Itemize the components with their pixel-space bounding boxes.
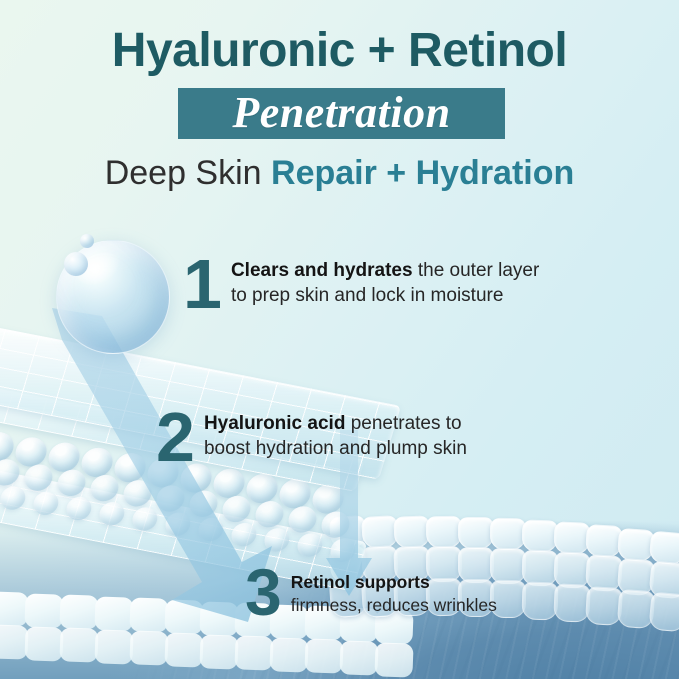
step-bold-1: Clears and hydrates bbox=[231, 260, 413, 281]
step-line-1b: to prep skin and lock in moisture bbox=[231, 284, 539, 309]
banner-penetration: Penetration bbox=[178, 88, 505, 139]
infographic-poster: Hyaluronic + Retinol Penetration Deep Sk… bbox=[0, 0, 679, 679]
step-line-2a: Hyaluronic acid penetrates to bbox=[204, 412, 467, 437]
step-number-1: 1 bbox=[183, 252, 220, 316]
step-body-1: Clears and hydrates the outer layer to p… bbox=[231, 252, 539, 308]
step-rest-1: the outer layer bbox=[413, 260, 540, 281]
subtitle-accent-text: Repair + Hydration bbox=[271, 154, 574, 192]
page-subtitle: Deep Skin Repair + Hydration bbox=[0, 155, 679, 192]
step-number-3: 3 bbox=[245, 562, 280, 623]
step-item-1: 1 Clears and hydrates the outer layer to… bbox=[183, 252, 539, 316]
step-line-3a: Retinol supports bbox=[291, 571, 497, 594]
step-line-1a: Clears and hydrates the outer layer bbox=[231, 259, 539, 284]
page-title: Hyaluronic + Retinol bbox=[0, 26, 679, 76]
water-droplet-graphic bbox=[56, 240, 170, 354]
step-item-3: 3 Retinol supports firmness, reduces wri… bbox=[245, 562, 497, 623]
droplet-highlight-graphic bbox=[72, 246, 126, 291]
step-item-2: 2 Hyaluronic acid penetrates to boost hy… bbox=[156, 405, 467, 469]
step-line-2b: boost hydration and plump skin bbox=[204, 437, 467, 462]
step-body-2: Hyaluronic acid penetrates to boost hydr… bbox=[204, 405, 467, 461]
tiny-bubble-graphic bbox=[80, 234, 94, 248]
small-bubble-graphic bbox=[64, 252, 88, 276]
step-number-2: 2 bbox=[156, 405, 193, 469]
step-bold-2: Hyaluronic acid bbox=[204, 413, 346, 434]
subtitle-plain-text: Deep Skin bbox=[105, 154, 271, 192]
step-rest-2: penetrates to bbox=[345, 413, 461, 434]
banner-label: Penetration bbox=[232, 91, 450, 135]
step-line-3b: firmness, reduces wrinkles bbox=[291, 594, 497, 617]
step-body-3: Retinol supports firmness, reduces wrink… bbox=[291, 562, 497, 617]
